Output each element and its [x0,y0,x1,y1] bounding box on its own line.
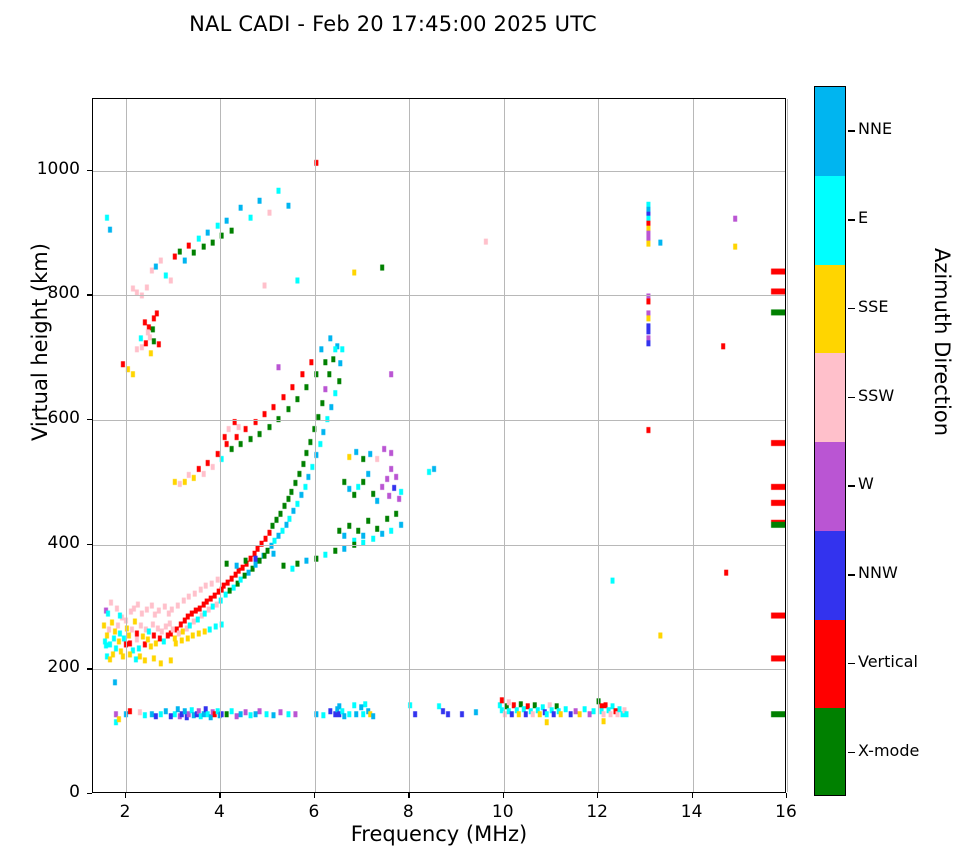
y-tick [87,544,92,545]
gridline-horizontal [93,420,785,421]
colorbar-tick-label-w: W [858,474,874,493]
gridline-vertical [220,99,221,792]
x-tick-label: 16 [756,802,816,822]
colorbar-tick [848,752,855,753]
y-tick [87,668,92,669]
colorbar-tick [848,574,855,575]
x-tick-label: 10 [473,802,533,822]
x-tick-label: 2 [95,802,155,822]
colorbar-tick-label-vertical: Vertical [858,652,918,671]
gridline-vertical [504,99,505,792]
y-tick [87,170,92,171]
colorbar-tick [848,397,855,398]
y-tick-label: 0 [10,782,80,802]
colorbar-segment-sse[interactable] [815,265,845,354]
colorbar-segment-vertical[interactable] [815,620,845,709]
gridline-vertical [693,99,694,792]
gridline-horizontal [93,669,785,670]
x-tick [503,793,504,798]
x-tick-label: 8 [378,802,438,822]
x-tick [786,793,787,798]
colorbar[interactable] [814,86,846,796]
ionogram-figure: NAL CADI - Feb 20 17:45:00 2025 UTC 2468… [0,0,958,857]
x-tick-label: 14 [662,802,722,822]
colorbar-tick [848,130,855,131]
gridline-vertical [409,99,410,792]
y-tick [87,419,92,420]
colorbar-segment-e[interactable] [815,176,845,265]
x-tick [597,793,598,798]
colorbar-tick [848,219,855,220]
gridline-vertical [787,99,788,792]
scatter-canvas [93,99,785,792]
plot-area [92,98,786,793]
y-tick-label: 200 [10,657,80,677]
x-tick-label: 6 [284,802,344,822]
x-tick [692,793,693,798]
colorbar-tick [848,308,855,309]
gridline-vertical [315,99,316,792]
y-tick [87,793,92,794]
x-tick [408,793,409,798]
y-axis-label: Virtual height (km) [28,222,52,462]
x-tick-label: 4 [189,802,249,822]
colorbar-tick-label-nne: NNE [858,119,892,138]
colorbar-segment-w[interactable] [815,442,845,531]
colorbar-tick [848,663,855,664]
y-tick-label: 400 [10,533,80,553]
gridline-horizontal [93,295,785,296]
x-tick [219,793,220,798]
x-tick [314,793,315,798]
x-tick [125,793,126,798]
x-axis-label: Frequency (MHz) [92,822,786,846]
colorbar-segment-ssw[interactable] [815,353,845,442]
y-tick [87,294,92,295]
colorbar-segment-nne[interactable] [815,87,845,176]
gridline-horizontal [93,171,785,172]
colorbar-tick-label-x-mode: X-mode [858,741,919,760]
gridline-vertical [126,99,127,792]
x-tick-label: 12 [567,802,627,822]
colorbar-segment-nnw[interactable] [815,531,845,620]
y-tick-label: 1000 [10,159,80,179]
colorbar-tick-label-sse: SSE [858,297,888,316]
colorbar-tick-label-nnw: NNW [858,563,898,582]
colorbar-tick [848,485,855,486]
colorbar-segment-x-mode[interactable] [815,708,845,796]
colorbar-tick-label-e: E [858,208,868,227]
figure-title: NAL CADI - Feb 20 17:45:00 2025 UTC [0,12,786,36]
colorbar-tick-label-ssw: SSW [858,386,894,405]
gridline-vertical [598,99,599,792]
gridline-horizontal [93,545,785,546]
colorbar-label: Azimuth Direction [930,212,954,472]
